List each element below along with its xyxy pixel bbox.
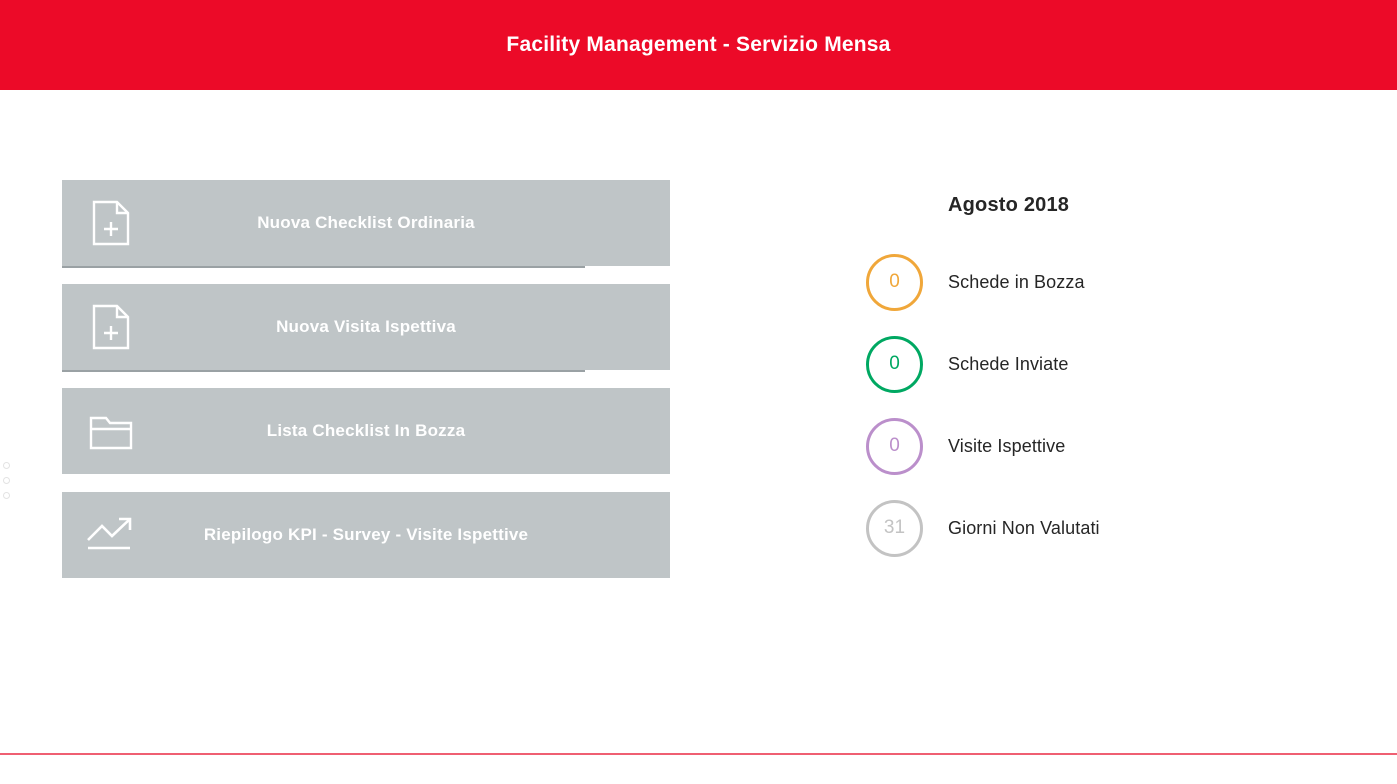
kpi-label: Schede Inviate <box>948 354 1068 375</box>
drag-dot <box>3 477 10 484</box>
kpi-value-badge: 0 <box>866 254 923 311</box>
document-add-icon <box>62 304 160 350</box>
kpi-value-badge: 0 <box>866 336 923 393</box>
action-button-list: Nuova Checklist Ordinaria Nuova Visita I… <box>62 180 670 596</box>
app-header: Facility Management - Servizio Mensa <box>0 0 1397 90</box>
drag-dot <box>3 462 10 469</box>
kpi-value-badge: 0 <box>866 418 923 475</box>
kpi-value: 0 <box>889 435 900 457</box>
main-content: Nuova Checklist Ordinaria Nuova Visita I… <box>0 90 1397 784</box>
document-add-icon <box>62 200 160 246</box>
drag-dot <box>3 492 10 499</box>
kpi-summary-button[interactable]: Riepilogo KPI - Survey - Visite Ispettiv… <box>62 492 670 578</box>
kpi-label: Visite Ispettive <box>948 436 1065 457</box>
kpi-period-title: Agosto 2018 <box>948 194 1296 217</box>
kpi-label: Schede in Bozza <box>948 272 1085 293</box>
kpi-summary-panel: Agosto 2018 0 Schede in Bozza 0 Schede I… <box>866 180 1296 569</box>
action-button-label: Lista Checklist In Bozza <box>160 421 670 441</box>
new-ordinary-checklist-button[interactable]: Nuova Checklist Ordinaria <box>62 180 670 266</box>
kpi-item-schede-inviate[interactable]: 0 Schede Inviate <box>866 323 1296 405</box>
draft-checklist-list-button[interactable]: Lista Checklist In Bozza <box>62 388 670 474</box>
folder-icon <box>62 411 160 451</box>
action-button-label: Nuova Checklist Ordinaria <box>160 213 670 233</box>
kpi-value: 0 <box>889 353 900 375</box>
kpi-label: Giorni Non Valutati <box>948 518 1100 539</box>
kpi-value: 0 <box>889 271 900 293</box>
action-button-label: Nuova Visita Ispettiva <box>160 317 670 337</box>
drag-dots-icon[interactable] <box>3 462 10 499</box>
kpi-item-visite-ispettive[interactable]: 0 Visite Ispettive <box>866 405 1296 487</box>
kpi-item-giorni-non-valutati[interactable]: 31 Giorni Non Valutati <box>866 487 1296 569</box>
kpi-value: 31 <box>884 517 905 539</box>
app-root: Facility Management - Servizio Mensa Nuo… <box>0 0 1397 784</box>
new-inspection-visit-button[interactable]: Nuova Visita Ispettiva <box>62 284 670 370</box>
kpi-value-badge: 31 <box>866 500 923 557</box>
page-title: Facility Management - Servizio Mensa <box>506 33 890 57</box>
action-button-label: Riepilogo KPI - Survey - Visite Ispettiv… <box>160 525 670 545</box>
kpi-item-schede-in-bozza[interactable]: 0 Schede in Bozza <box>866 241 1296 323</box>
app-footer: LEONARDO GLOBAL SOLUTIONS ONLINE <box>0 755 1397 784</box>
trending-up-chart-icon <box>62 515 160 555</box>
